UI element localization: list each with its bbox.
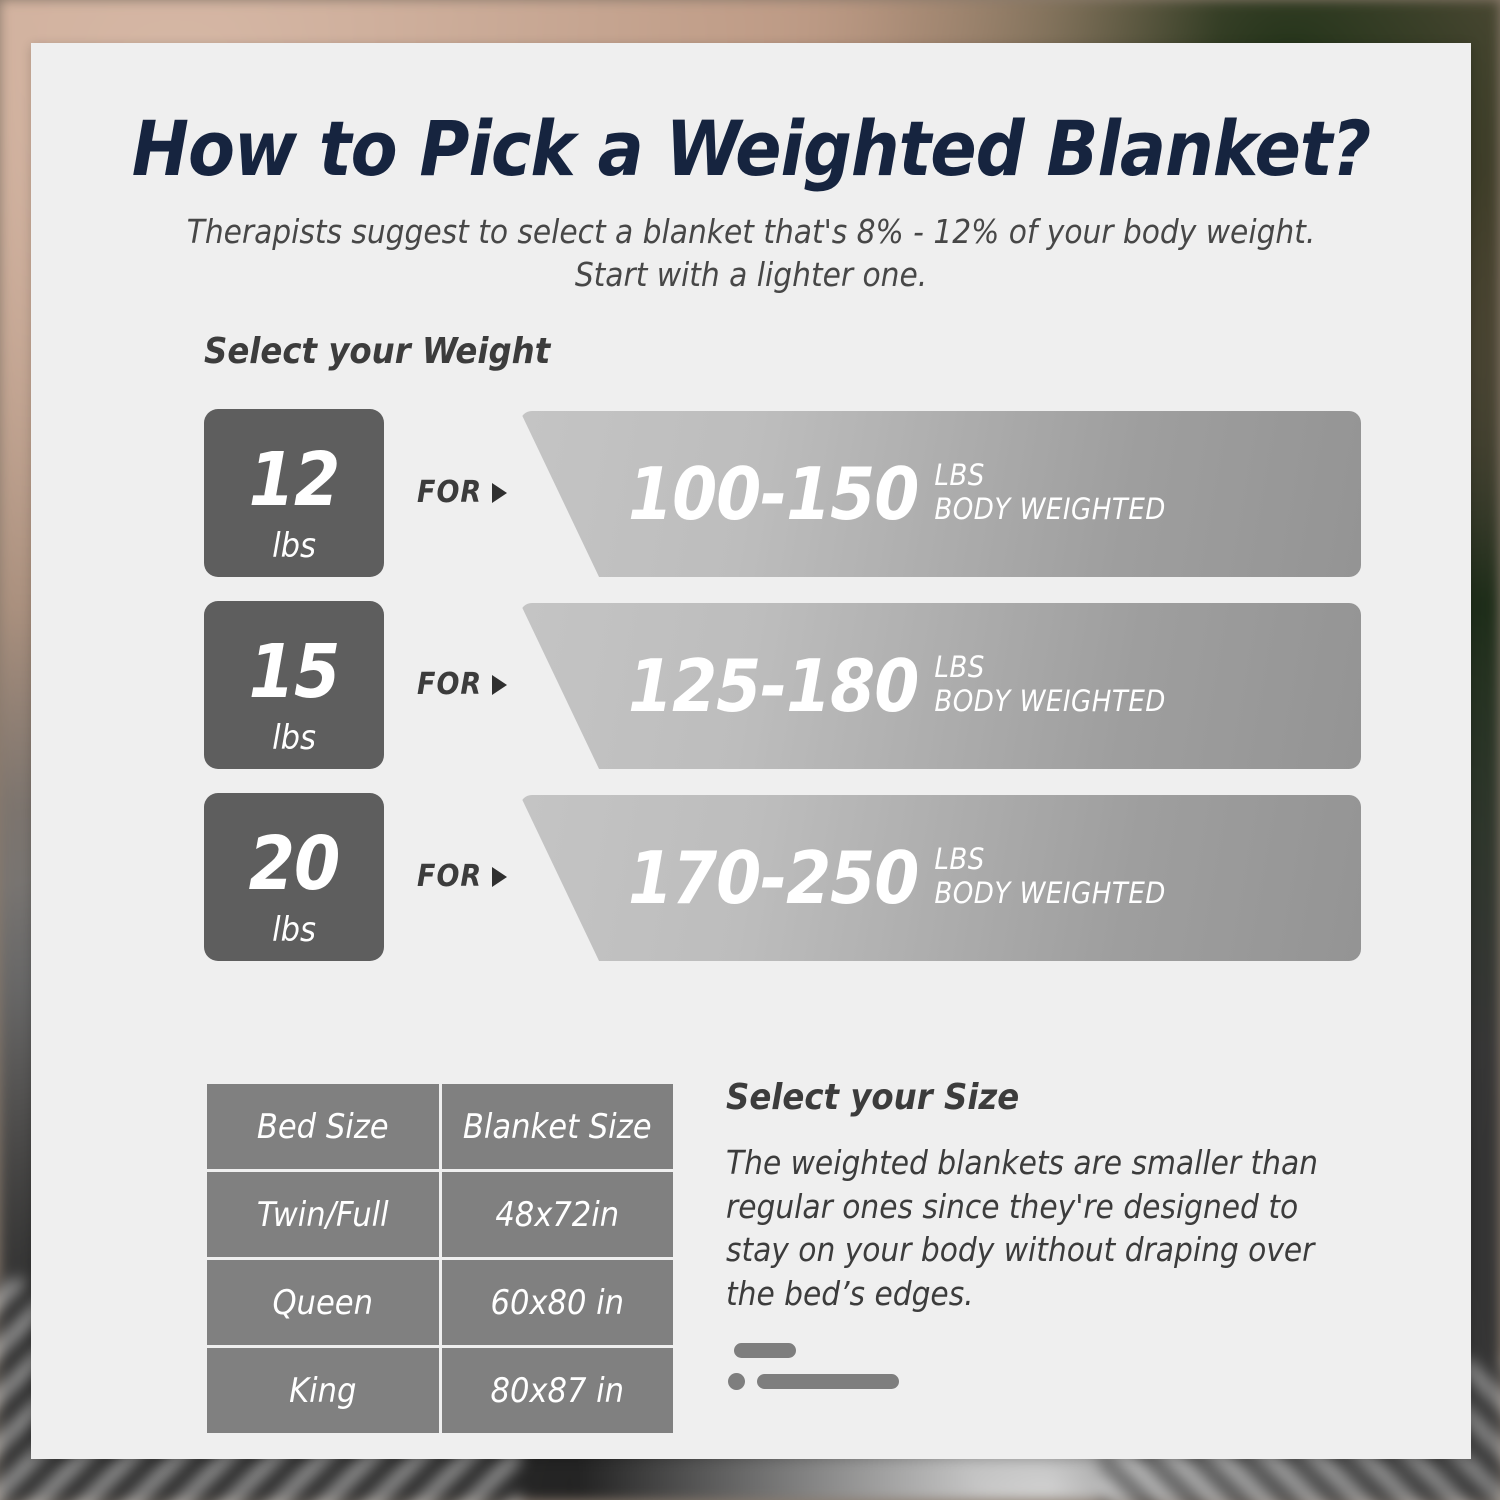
for-label: FOR xyxy=(417,859,482,894)
body-weight-bar-12[interactable]: 100-150 LBS BODY WEIGHTED xyxy=(520,411,1361,577)
weight-value: 15 xyxy=(204,601,384,709)
body-weight-bar-15[interactable]: 125-180 LBS BODY WEIGHTED xyxy=(520,603,1361,769)
body-weighted-label: BODY WEIGHTED xyxy=(934,684,1166,718)
weight-chip-12[interactable]: 12 lbs xyxy=(204,409,384,577)
for-label: FOR xyxy=(417,475,482,510)
lbs-label: LBS xyxy=(934,458,1166,492)
table-row: King 80x87 in xyxy=(207,1348,673,1433)
for-label: FOR xyxy=(417,667,482,702)
weight-unit: lbs xyxy=(204,901,384,947)
list-line-row xyxy=(728,1373,899,1390)
select-weight-heading: Select your Weight xyxy=(204,331,550,372)
infographic-card: How to Pick a Weighted Blanket? Therapis… xyxy=(31,43,1471,1459)
cell-blanket-size: 80x87 in xyxy=(442,1348,674,1433)
body-weight-bar-20[interactable]: 170-250 LBS BODY WEIGHTED xyxy=(520,795,1361,961)
weight-chip-15[interactable]: 15 lbs xyxy=(204,601,384,769)
cell-blanket-size: 48x72in xyxy=(442,1172,674,1257)
triangle-right-icon xyxy=(492,867,507,887)
lbs-label: LBS xyxy=(934,650,1166,684)
for-connector: FOR xyxy=(417,859,507,894)
triangle-right-icon xyxy=(492,675,507,695)
list-line-long xyxy=(757,1374,899,1389)
weight-option-row[interactable]: 20 lbs FOR 170-250 LBS BODY WEIGHTED xyxy=(31,793,1471,985)
body-weighted-label: BODY WEIGHTED xyxy=(934,876,1166,910)
select-size-body: The weighted blankets are smaller than r… xyxy=(726,1141,1351,1315)
list-bullet-dot xyxy=(728,1373,745,1390)
body-weight-range: 100-150 xyxy=(628,458,918,530)
body-weighted-label: BODY WEIGHTED xyxy=(934,492,1166,526)
page-title: How to Pick a Weighted Blanket? xyxy=(31,111,1471,187)
bed-size-table: Bed Size Blanket Size Twin/Full 48x72in … xyxy=(204,1081,676,1436)
weight-unit: lbs xyxy=(204,709,384,755)
body-weight-labels: LBS BODY WEIGHTED xyxy=(934,458,1166,530)
column-header-bed-size: Bed Size xyxy=(207,1084,439,1169)
body-weight-labels: LBS BODY WEIGHTED xyxy=(934,650,1166,722)
weight-options-list: 12 lbs FOR 100-150 LBS BODY WEIGHTED 15 … xyxy=(31,409,1471,985)
column-header-blanket-size: Blanket Size xyxy=(442,1084,674,1169)
lbs-label: LBS xyxy=(934,842,1166,876)
for-connector: FOR xyxy=(417,667,507,702)
cell-blanket-size: 60x80 in xyxy=(442,1260,674,1345)
weight-value: 12 xyxy=(204,409,384,517)
weight-option-row[interactable]: 12 lbs FOR 100-150 LBS BODY WEIGHTED xyxy=(31,409,1471,601)
weight-unit: lbs xyxy=(204,517,384,563)
list-lines-icon xyxy=(728,1343,899,1390)
select-size-heading: Select your Size xyxy=(726,1077,1019,1118)
list-line-short xyxy=(734,1343,796,1358)
cell-bed-size: King xyxy=(207,1348,439,1433)
cell-bed-size: Twin/Full xyxy=(207,1172,439,1257)
triangle-right-icon xyxy=(492,483,507,503)
body-weight-range: 125-180 xyxy=(628,650,918,722)
weight-chip-20[interactable]: 20 lbs xyxy=(204,793,384,961)
body-weight-range: 170-250 xyxy=(628,842,918,914)
table-row: Queen 60x80 in xyxy=(207,1260,673,1345)
for-connector: FOR xyxy=(417,475,507,510)
table-header-row: Bed Size Blanket Size xyxy=(207,1084,673,1169)
page-subtitle: Therapists suggest to select a blanket t… xyxy=(161,211,1341,297)
body-weight-labels: LBS BODY WEIGHTED xyxy=(934,842,1166,914)
weight-value: 20 xyxy=(204,793,384,901)
cell-bed-size: Queen xyxy=(207,1260,439,1345)
weight-option-row[interactable]: 15 lbs FOR 125-180 LBS BODY WEIGHTED xyxy=(31,601,1471,793)
table-row: Twin/Full 48x72in xyxy=(207,1172,673,1257)
